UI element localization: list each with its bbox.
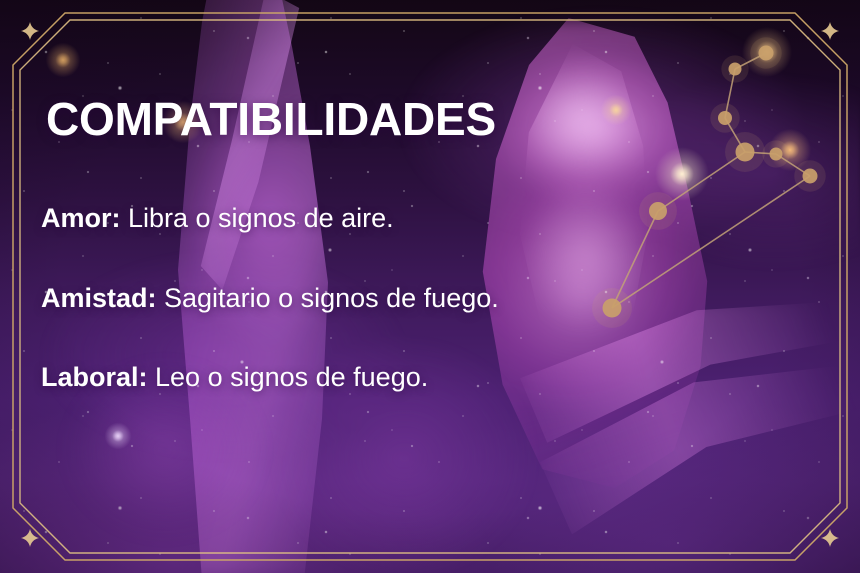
- compat-line-amistad: Amistad: Sagitario o signos de fuego.: [41, 283, 499, 314]
- compat-value-amor: Libra o signos de aire.: [121, 203, 394, 233]
- compat-value-laboral: Leo o signos de fuego.: [148, 362, 429, 392]
- compat-label-amistad: Amistad:: [41, 283, 157, 313]
- compat-line-amor: Amor: Libra o signos de aire.: [41, 203, 394, 234]
- compat-line-laboral: Laboral: Leo o signos de fuego.: [41, 362, 428, 393]
- horoscope-compatibility-poster: COMPATIBILIDADES Amor: Libra o signos de…: [0, 0, 860, 573]
- compat-value-amistad: Sagitario o signos de fuego.: [157, 283, 499, 313]
- compat-label-laboral: Laboral:: [41, 362, 148, 392]
- poster-text-content: COMPATIBILIDADES Amor: Libra o signos de…: [0, 0, 860, 573]
- page-title: COMPATIBILIDADES: [46, 92, 496, 146]
- compat-label-amor: Amor:: [41, 203, 121, 233]
